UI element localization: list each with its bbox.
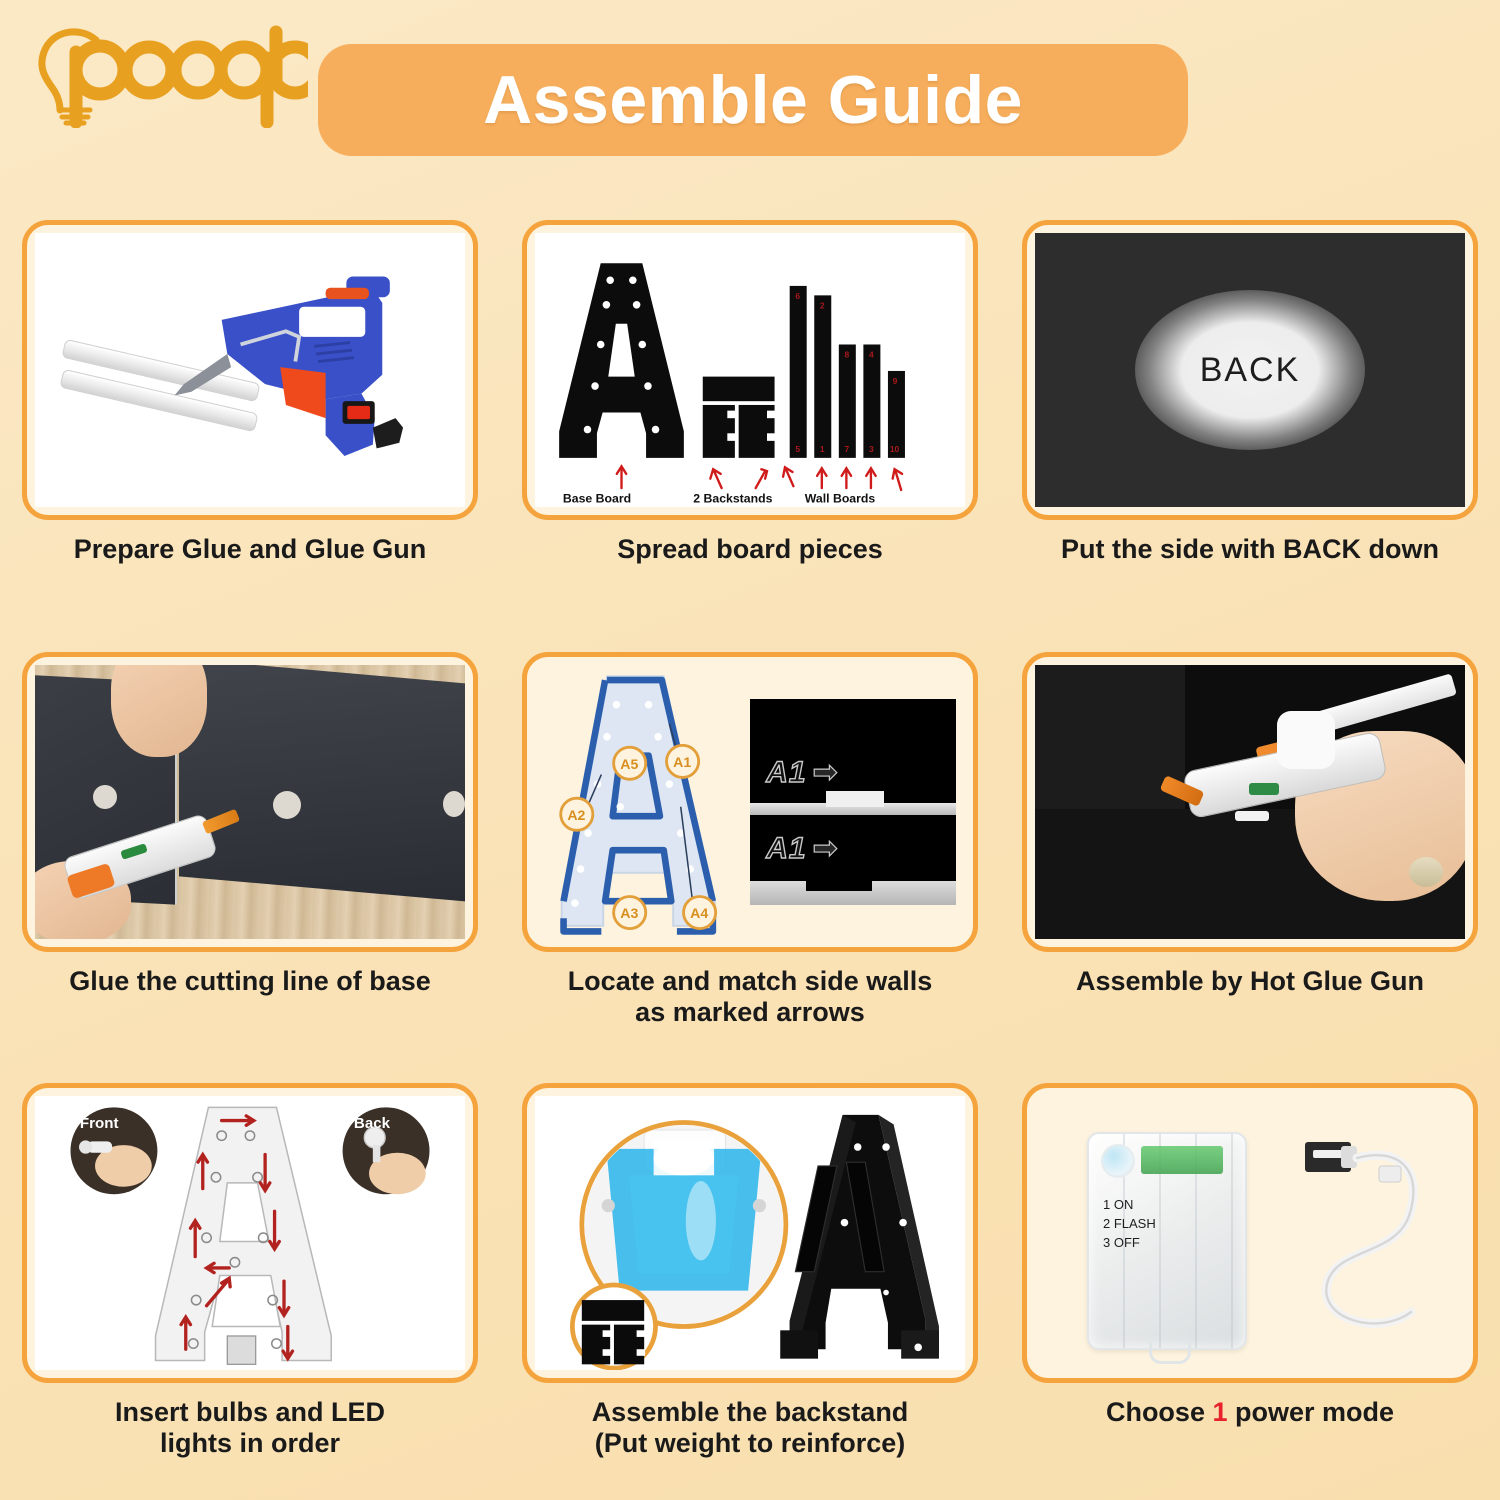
battery-mode-1: 1 ON: [1103, 1196, 1156, 1215]
step-card-1: Prepare Glue and Glue Gun: [0, 205, 500, 637]
glue-gun-indicator: [1249, 783, 1279, 795]
dark-board-scene: BACK: [1035, 233, 1465, 507]
battery-mode-3: 3 OFF: [1103, 1234, 1156, 1253]
svg-text:A4: A4: [690, 906, 708, 922]
hot-glue-gun-photo: [1035, 665, 1465, 939]
power-mode-scene: 1 ON 2 FLASH 3 OFF: [1035, 1096, 1465, 1370]
glue-gun-scene: [35, 233, 465, 507]
step-5-panel: A1 A5 A2 A3 A4: [522, 652, 978, 952]
page-title-banner: Assemble Guide: [318, 44, 1188, 156]
black-backstand-letter-a: [780, 1115, 939, 1359]
svg-text:8: 8: [844, 350, 849, 360]
marker-a1: A1: [667, 745, 699, 777]
step-2-panel: 62 84 9 51 73 10: [522, 220, 978, 520]
steps-grid: Prepare Glue and Glue Gun: [0, 205, 1500, 1500]
arrow-right-icon: ➡: [813, 834, 838, 864]
page-title: Assemble Guide: [483, 61, 1023, 139]
step-9-caption: Choose 1 power mode: [1106, 1397, 1394, 1428]
step-7-caption-line1: Insert bulbs and LED: [115, 1397, 385, 1427]
bulb-hole: [273, 791, 301, 819]
backstand-assembly-diagram: [535, 1096, 965, 1370]
step-4-panel: [22, 652, 478, 952]
brand-logo: [18, 18, 308, 128]
step-8-caption: Assemble the backstand (Put weight to re…: [592, 1397, 909, 1459]
svg-text:A5: A5: [620, 757, 638, 773]
step-9-caption-prefix: Choose: [1106, 1397, 1213, 1427]
coin-weight: [1409, 857, 1443, 887]
base-board-right: [179, 665, 465, 902]
step-9-caption-suffix: power mode: [1228, 1397, 1395, 1427]
step-7-illustration: Front Back: [35, 1096, 465, 1370]
step-3-panel: BACK: [1022, 220, 1478, 520]
step-8-panel: [522, 1083, 978, 1383]
step-7-caption-line2: lights in order: [160, 1428, 340, 1458]
step-card-3: BACK Put the side with BACK down: [1000, 205, 1500, 637]
step-7-caption: Insert bulbs and LED lights in order: [115, 1397, 385, 1459]
page-header: Assemble Guide: [0, 0, 1500, 200]
a1-upper-label: A1: [766, 756, 806, 790]
battery-box: 1 ON 2 FLASH 3 OFF: [1087, 1132, 1247, 1350]
step-1-caption: Prepare Glue and Glue Gun: [74, 534, 427, 565]
step-card-8: Assemble the backstand (Put weight to re…: [500, 1068, 1000, 1500]
step-3-caption: Put the side with BACK down: [1061, 534, 1439, 565]
marker-a4: A4: [684, 896, 716, 928]
step-9-caption-accent: 1: [1212, 1397, 1227, 1427]
arrow-right-icon: ➡: [813, 758, 838, 788]
step-8-illustration: [535, 1096, 965, 1370]
glue-gun-knob: [1277, 711, 1335, 769]
glue-gun-icon: [35, 233, 465, 507]
svg-text:1: 1: [820, 444, 825, 454]
marker-a2: A2: [561, 798, 593, 830]
svg-text:9: 9: [893, 376, 898, 386]
back-label: Back: [354, 1115, 391, 1132]
step-1-panel: [22, 220, 478, 520]
step-5-caption: Locate and match side walls as marked ar…: [568, 966, 933, 1028]
front-bubble: Front: [70, 1108, 157, 1195]
step-5-illustration: A1 A5 A2 A3 A4: [535, 665, 965, 939]
gluing-base-photo: [35, 665, 465, 939]
svg-text:A3: A3: [620, 906, 638, 922]
label-base-board: Base Board: [563, 491, 631, 505]
battery-mode-2: 2 FLASH: [1103, 1215, 1156, 1234]
svg-text:5: 5: [795, 444, 800, 454]
usb-cable: [1283, 1130, 1463, 1352]
svg-text:2: 2: [820, 301, 825, 311]
step-1-illustration: [35, 233, 465, 507]
svg-text:3: 3: [869, 444, 874, 454]
bottom-notch: [806, 873, 872, 891]
step-5-caption-line1: Locate and match side walls: [568, 966, 933, 996]
step-8-caption-line2: (Put weight to reinforce): [595, 1428, 906, 1458]
wall-boards-icon: [790, 286, 905, 458]
step-2-illustration: 62 84 9 51 73 10: [535, 233, 965, 507]
svg-text:10: 10: [890, 444, 900, 454]
step-3-illustration: BACK: [1035, 233, 1465, 507]
svg-text:4: 4: [869, 350, 874, 360]
back-bubble: Back: [343, 1108, 430, 1195]
step-6-panel: [1022, 652, 1478, 952]
battery-mode-list: 1 ON 2 FLASH 3 OFF: [1103, 1196, 1156, 1253]
a1-detail-photo-wrap: A1 ➡ A1 ➡: [741, 665, 965, 939]
svg-text:7: 7: [844, 444, 849, 454]
battery-hang-loop: [1149, 1342, 1191, 1364]
svg-text:A2: A2: [567, 808, 585, 824]
label-backstands: 2 Backstands: [693, 491, 772, 505]
step-5-caption-line2: as marked arrows: [635, 997, 865, 1027]
back-label-text: BACK: [1200, 351, 1301, 390]
a1-lower-label: A1: [766, 832, 806, 866]
board-pieces-diagram: 62 84 9 51 73 10: [535, 233, 965, 507]
marker-a5: A5: [614, 747, 646, 779]
battery-box-icon: [227, 1336, 255, 1364]
step-2-caption: Spread board pieces: [617, 534, 883, 565]
step-card-2: 62 84 9 51 73 10: [500, 205, 1000, 637]
step-card-4: Glue the cutting line of base: [0, 637, 500, 1069]
front-label: Front: [80, 1115, 119, 1132]
bulb-insert-order-diagram: Front Back: [35, 1096, 465, 1370]
back-label-glow: BACK: [1135, 290, 1365, 450]
step-card-7: Front Back Insert bulbs and LED: [0, 1068, 500, 1500]
side-wall-matching-diagram: A1 A5 A2 A3 A4: [535, 665, 965, 939]
step-6-caption: Assemble by Hot Glue Gun: [1076, 966, 1424, 997]
step-card-9: 1 ON 2 FLASH 3 OFF: [1000, 1068, 1500, 1500]
letter-a-marker-map: A1 A5 A2 A3 A4: [535, 665, 741, 939]
step-4-caption: Glue the cutting line of base: [69, 966, 431, 997]
tab-notch: [826, 791, 884, 807]
step-card-5: A1 A5 A2 A3 A4: [500, 637, 1000, 1069]
a1-detail-photo: A1 ➡ A1 ➡: [750, 699, 956, 905]
marker-a3: A3: [614, 896, 646, 928]
backstand-pieces-icon: [703, 377, 775, 458]
svg-text:6: 6: [795, 291, 800, 301]
battery-led-icon: [1101, 1144, 1135, 1178]
bulb-hole: [93, 785, 117, 809]
battery-pcb: [1141, 1146, 1223, 1174]
step-9-illustration: 1 ON 2 FLASH 3 OFF: [1035, 1096, 1465, 1370]
step-9-panel: 1 ON 2 FLASH 3 OFF: [1022, 1083, 1478, 1383]
step-7-panel: Front Back: [22, 1083, 478, 1383]
step-4-illustration: [35, 665, 465, 939]
step-6-illustration: [1035, 665, 1465, 939]
svg-text:A1: A1: [673, 755, 691, 771]
label-wall-boards: Wall Boards: [805, 491, 876, 505]
step-8-caption-line1: Assemble the backstand: [592, 1397, 909, 1427]
a1-upper-mark: A1 ➡: [766, 753, 946, 793]
step-card-6: Assemble by Hot Glue Gun: [1000, 637, 1500, 1069]
bulb-hole: [443, 791, 465, 817]
a1-lower-mark: A1 ➡: [766, 829, 946, 869]
glue-residue: [1235, 811, 1269, 821]
